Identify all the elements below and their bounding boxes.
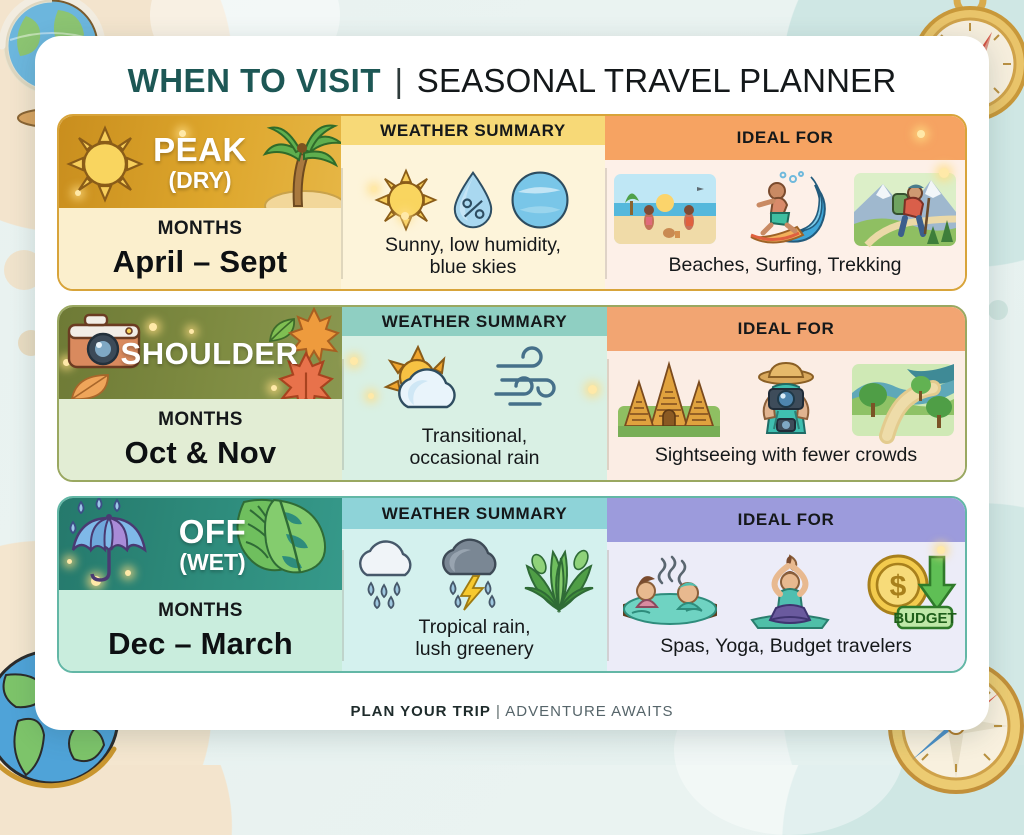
sun-behind-cloud-icon bbox=[384, 345, 476, 417]
months-value: Oct & Nov bbox=[125, 435, 277, 471]
ideal-for-text: Beaches, Surfing, Trekking bbox=[668, 255, 901, 277]
weather-cell-shoulder: WEATHER SUMMARY bbox=[342, 307, 607, 480]
sun-icon bbox=[375, 169, 437, 231]
ideal-for-body: Beaches, Surfing, Trekking bbox=[605, 160, 965, 289]
palm-tree-icon bbox=[247, 120, 341, 208]
weather-summary-text: Tropical rain, lush greenery bbox=[415, 617, 533, 661]
countryside-path-icon bbox=[851, 363, 955, 437]
sun-icon bbox=[67, 126, 143, 202]
season-cell-peak: PEAK (DRY) MONTHS April – Sept bbox=[59, 116, 341, 289]
footer-divider: | bbox=[496, 703, 501, 720]
months-label: MONTHS bbox=[158, 409, 243, 431]
surfing-icon bbox=[737, 171, 833, 247]
page-title-secondary: SEASONAL TRAVEL PLANNER bbox=[417, 62, 897, 99]
weather-cell-peak: WEATHER SUMMARY bbox=[341, 116, 605, 289]
ideal-for-body: Sightseeing with fewer crowds bbox=[607, 351, 965, 480]
table-row[interactable]: PEAK (DRY) MONTHS April – Sept WEATHER S… bbox=[57, 114, 967, 291]
season-name-peak: PEAK (DRY) bbox=[153, 133, 247, 192]
table-row[interactable]: SHOULDER MONTHS Oct & Nov WEATHER SUMMAR… bbox=[57, 305, 967, 482]
table-row[interactable]: OFF (WET) MONTHS Dec – March WEATHER SUM… bbox=[57, 496, 967, 673]
hot-spring-spa-icon bbox=[618, 555, 722, 627]
budget-coin-icon: $ BUDGET bbox=[858, 551, 954, 631]
photographer-icon bbox=[747, 361, 825, 439]
season-rows: PEAK (DRY) MONTHS April – Sept WEATHER S… bbox=[57, 114, 967, 691]
page-title-primary: WHEN TO VISIT bbox=[128, 62, 381, 99]
months-value: April – Sept bbox=[113, 244, 288, 280]
tropical-plant-icon bbox=[519, 534, 599, 612]
monstera-leaf-icon bbox=[234, 498, 342, 590]
thunderstorm-cloud-icon bbox=[433, 536, 511, 610]
footer-secondary: ADVENTURE AWAITS bbox=[505, 703, 673, 720]
ideal-cell-off: IDEAL FOR bbox=[607, 498, 965, 671]
weather-summary-text: Sunny, low humidity, blue skies bbox=[385, 235, 561, 279]
weather-cell-off: WEATHER SUMMARY bbox=[342, 498, 607, 671]
season-name-off: OFF (WET) bbox=[155, 515, 246, 574]
weather-summary-text: Transitional, occasional rain bbox=[409, 426, 539, 470]
ideal-for-header: IDEAL FOR bbox=[605, 116, 965, 160]
ideal-for-body: $ BUDGET Spas, Yoga, Budget travelers bbox=[607, 542, 965, 671]
beach-scene-icon bbox=[613, 173, 717, 245]
temple-icon bbox=[617, 362, 721, 438]
months-label: MONTHS bbox=[158, 600, 243, 622]
ideal-for-text: Sightseeing with fewer crowds bbox=[655, 445, 917, 467]
ideal-cell-shoulder: IDEAL FOR bbox=[607, 307, 965, 480]
ideal-cell-peak: IDEAL FOR bbox=[605, 116, 965, 289]
season-months-peak: MONTHS April – Sept bbox=[59, 208, 341, 289]
wind-icon bbox=[492, 350, 566, 412]
weather-summary-body: Tropical rain, lush greenery bbox=[342, 529, 607, 671]
humidity-droplet-percent-icon bbox=[449, 169, 497, 231]
yoga-pose-icon bbox=[746, 552, 834, 630]
svg-text:$: $ bbox=[890, 570, 907, 603]
season-header-peak: PEAK (DRY) bbox=[59, 116, 341, 208]
page-title-divider: | bbox=[394, 62, 403, 99]
infographic-card: WHEN TO VISIT | SEASONAL TRAVEL PLANNER bbox=[35, 36, 989, 730]
weather-summary-body: Transitional, occasional rain bbox=[342, 336, 607, 480]
season-months-off: MONTHS Dec – March bbox=[59, 590, 342, 671]
footer: PLAN YOUR TRIP | ADVENTURE AWAITS bbox=[57, 691, 967, 724]
weather-summary-header: WEATHER SUMMARY bbox=[341, 116, 605, 145]
trekking-hiker-icon bbox=[853, 172, 957, 246]
ideal-for-header: IDEAL FOR bbox=[607, 498, 965, 542]
ideal-for-header: IDEAL FOR bbox=[607, 307, 965, 351]
rain-cloud-icon bbox=[351, 537, 425, 609]
season-name-shoulder: SHOULDER bbox=[103, 338, 299, 369]
season-cell-shoulder: SHOULDER MONTHS Oct & Nov bbox=[59, 307, 342, 480]
autumn-leaf-icon bbox=[69, 371, 111, 399]
season-header-shoulder: SHOULDER bbox=[59, 307, 342, 399]
months-value: Dec – March bbox=[108, 626, 293, 662]
weather-summary-body: Sunny, low humidity, blue skies bbox=[341, 145, 605, 289]
season-months-shoulder: MONTHS Oct & Nov bbox=[59, 399, 342, 480]
season-cell-off: OFF (WET) MONTHS Dec – March bbox=[59, 498, 342, 671]
weather-summary-header: WEATHER SUMMARY bbox=[342, 307, 607, 336]
months-label: MONTHS bbox=[158, 218, 243, 240]
blue-sky-circle-icon bbox=[509, 169, 571, 231]
weather-summary-header: WEATHER SUMMARY bbox=[342, 498, 607, 529]
footer-primary: PLAN YOUR TRIP bbox=[350, 703, 490, 720]
ideal-for-text: Spas, Yoga, Budget travelers bbox=[660, 636, 912, 658]
season-header-off: OFF (WET) bbox=[59, 498, 342, 590]
bg-dot-2 bbox=[988, 300, 1008, 320]
umbrella-rain-icon bbox=[65, 498, 161, 590]
svg-text:BUDGET: BUDGET bbox=[893, 610, 956, 627]
page-title: WHEN TO VISIT | SEASONAL TRAVEL PLANNER bbox=[57, 52, 967, 114]
